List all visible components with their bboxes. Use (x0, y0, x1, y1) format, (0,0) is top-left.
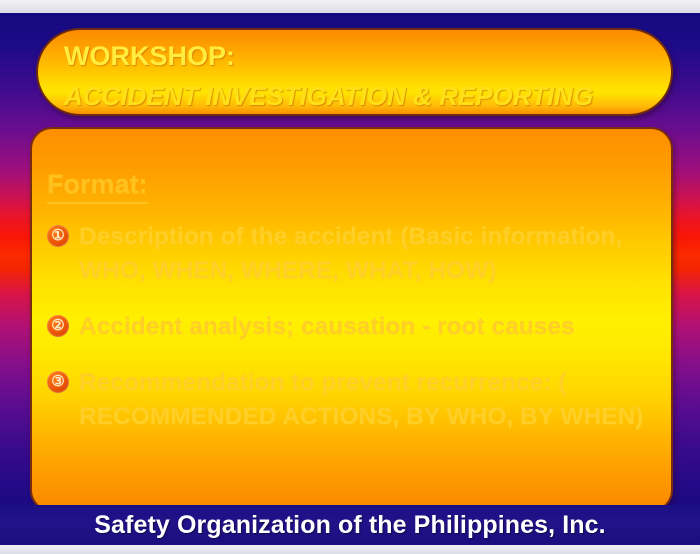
title-line-subject: ACCIDENT INVESTIGATION & REPORTING (64, 76, 671, 116)
title-line-workshop: WORKSHOP: (64, 36, 671, 76)
format-heading: Format: (47, 167, 148, 204)
list-item: ③ Recommendation to prevent recurrence: … (44, 366, 651, 434)
numbered-bullet-icon: ② (47, 315, 69, 337)
organization-name: Safety Organization of the Philippines, … (94, 511, 605, 540)
numbered-bullet-icon: ③ (47, 371, 69, 393)
list-item-text: Accident analysis; causation - root caus… (79, 310, 651, 344)
footer-banner: Safety Organization of the Philippines, … (0, 505, 700, 545)
list-item-text: Description of the accident (Basic infor… (79, 220, 651, 288)
top-edge-strip (0, 0, 700, 13)
bottom-edge-strip (0, 545, 700, 554)
list-item: ② Accident analysis; causation - root ca… (44, 310, 651, 344)
content-panel: Format: ① Description of the accident (B… (30, 127, 673, 512)
title-banner: WORKSHOP: ACCIDENT INVESTIGATION & REPOR… (36, 28, 673, 116)
numbered-bullet-icon: ① (47, 225, 69, 247)
presentation-slide: WORKSHOP: ACCIDENT INVESTIGATION & REPOR… (0, 0, 700, 554)
list-item-text: Recommendation to prevent recurrence: ( … (79, 366, 651, 434)
list-item: ① Description of the accident (Basic inf… (44, 220, 651, 288)
